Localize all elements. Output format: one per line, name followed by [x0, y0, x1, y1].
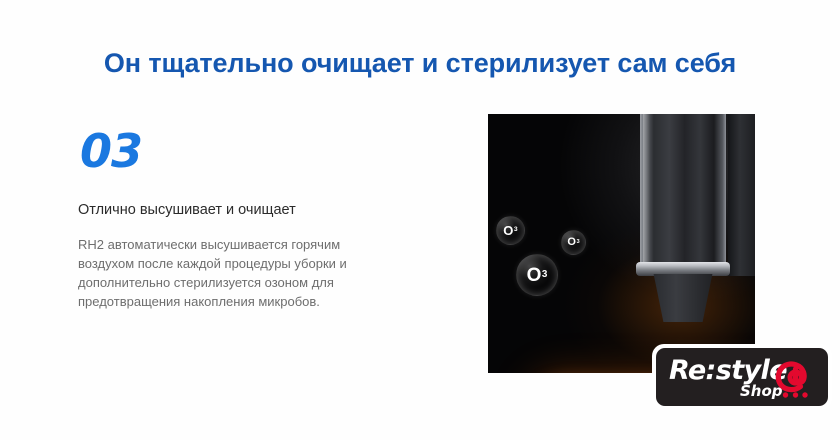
ozone-bubble-superscript: 3	[514, 227, 518, 234]
feature-body-text: RH2 автоматически высушивается горячим в…	[78, 236, 398, 311]
product-photo: O3 O3 O3	[488, 114, 755, 373]
feature-subheading: Отлично высушивает и очищает	[78, 202, 418, 219]
at-cart-icon	[766, 356, 814, 400]
vacuum-side-panel	[728, 114, 755, 276]
step-number: 03	[80, 128, 418, 174]
ozone-bubble-icon: O3	[561, 230, 586, 255]
ozone-bubble-icon: O3	[496, 216, 525, 245]
logo-box: Re:style Shop	[656, 348, 828, 406]
ozone-bubble-superscript: 3	[576, 240, 579, 246]
ozone-bubble-icon: O3	[516, 254, 558, 296]
ozone-bubble-label: O	[567, 237, 576, 248]
vacuum-chrome-ring	[636, 262, 730, 276]
ozone-bubble-superscript: 3	[542, 270, 548, 280]
page-root: Он тщательно очищает и стерилизует сам с…	[0, 0, 840, 440]
shop-logo[interactable]: Re:style Shop	[652, 344, 832, 410]
feature-block: 03 Отлично высушивает и очищает RH2 авто…	[78, 128, 418, 312]
vacuum-body	[640, 114, 726, 266]
ozone-bubble-label: O	[527, 266, 542, 285]
ozone-bubble-label: O	[503, 224, 513, 237]
page-title: Он тщательно очищает и стерилизует сам с…	[0, 48, 840, 79]
